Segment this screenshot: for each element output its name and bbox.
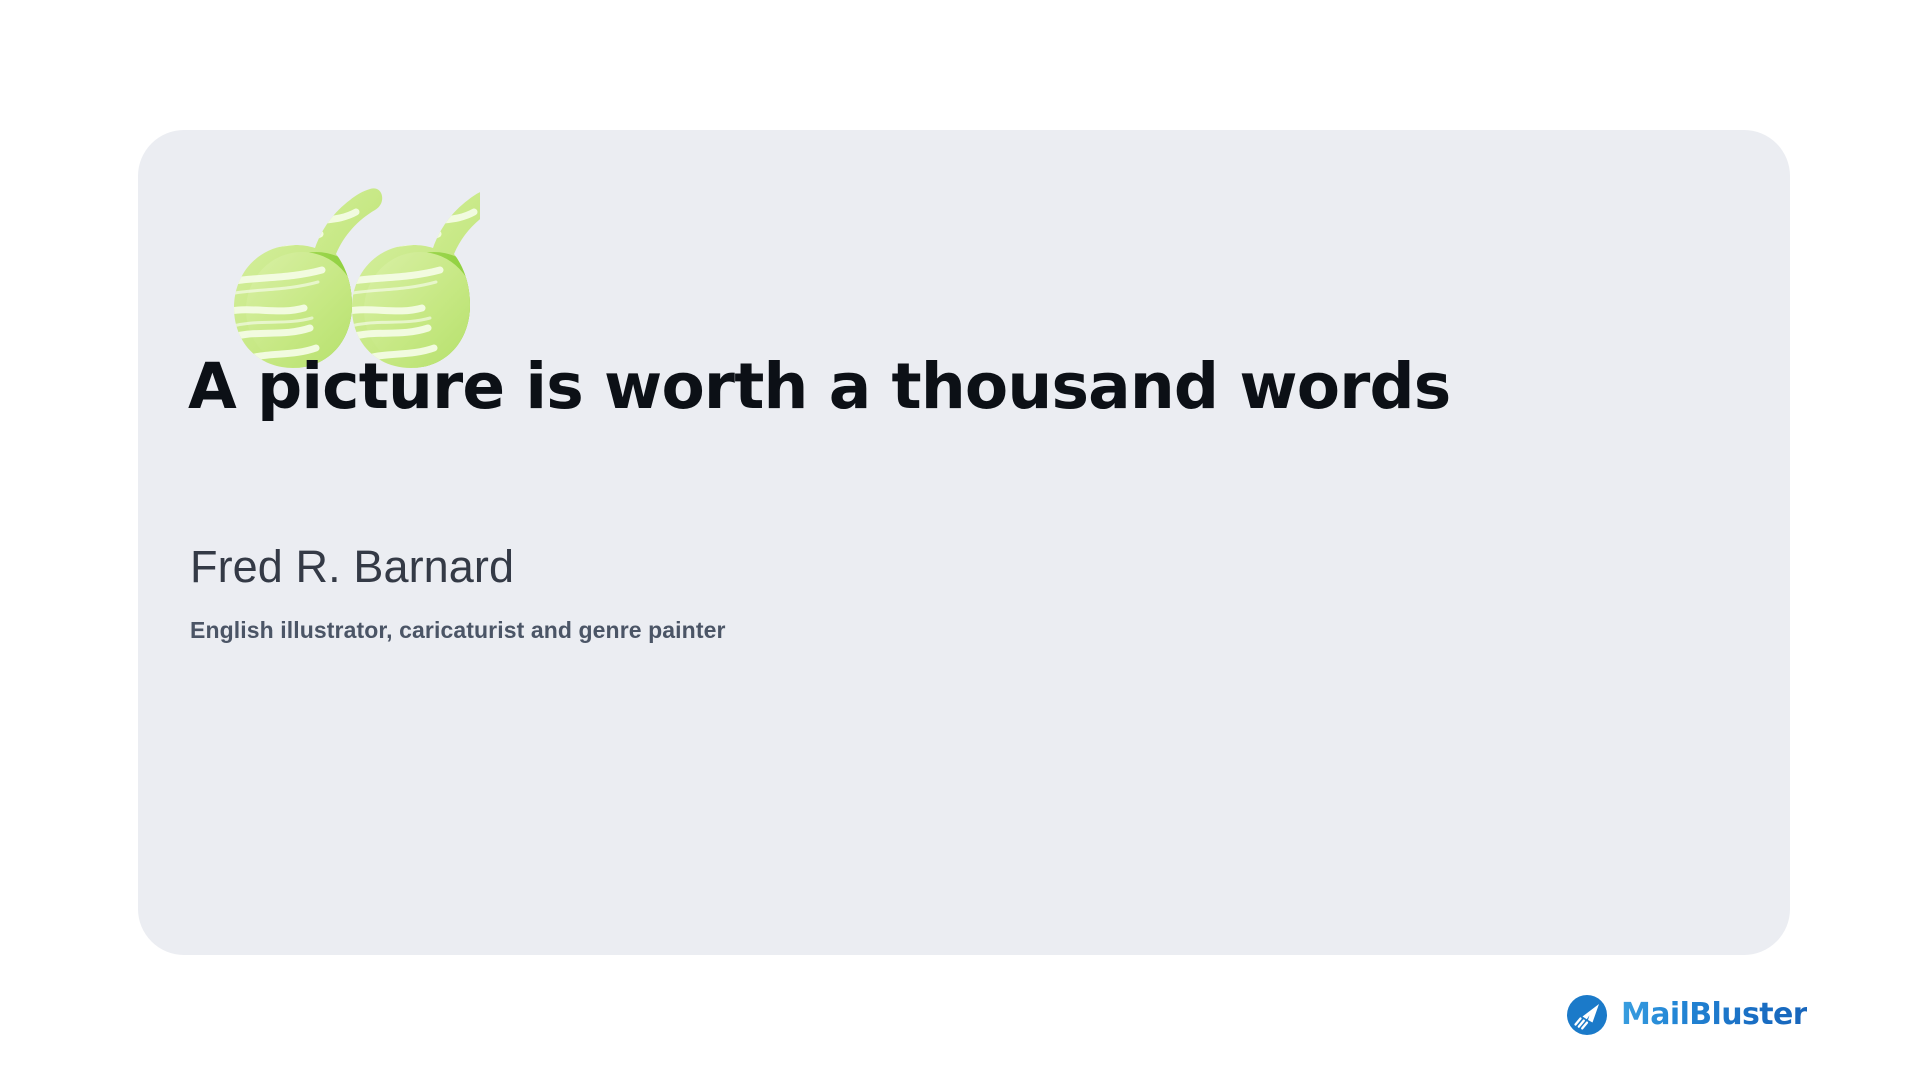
brand-logo: MailBluster — [1566, 992, 1807, 1038]
quote-text: A picture is worth a thousand words — [188, 352, 1748, 423]
brand-wordmark: MailBluster — [1621, 1000, 1807, 1030]
author-role: English illustrator, caricaturist and ge… — [190, 616, 1590, 646]
attribution-block: Fred R. Barnard English illustrator, car… — [190, 540, 1590, 646]
author-name: Fred R. Barnard — [190, 540, 1590, 594]
quote-card-page: A picture is worth a thousand words Fred… — [0, 0, 1920, 1080]
paper-plane-circle-icon — [1566, 994, 1608, 1036]
quote-card: A picture is worth a thousand words Fred… — [138, 130, 1790, 955]
double-quote-icon — [230, 188, 480, 368]
